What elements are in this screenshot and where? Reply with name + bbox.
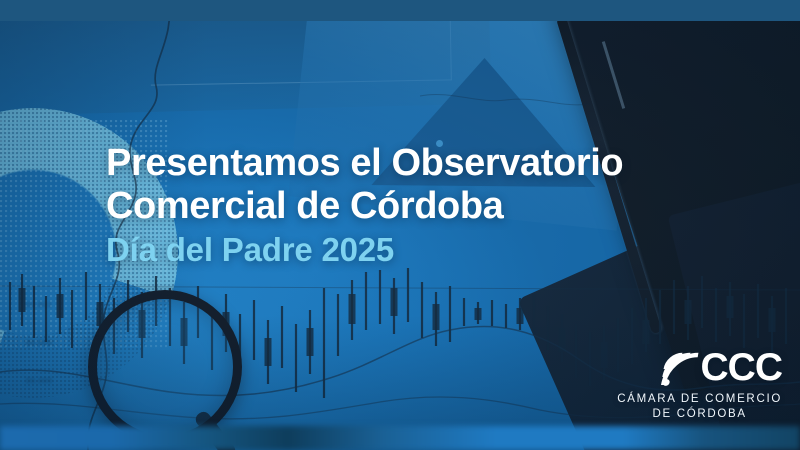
subheadline: Día del Padre 2025 — [106, 231, 623, 269]
headline-block: Presentamos el Observatorio Comercial de… — [106, 142, 623, 269]
logo-subtitle-line-2: DE CÓRDOBA — [617, 407, 782, 422]
logo[interactable]: CCC CÁMARA DE COMERCIO DE CÓRDOBA — [617, 348, 782, 422]
logo-wordmark: CCC — [701, 348, 783, 388]
page-title: Presentamos el Observatorio Comercial de… — [106, 142, 623, 228]
promo-banner: 00.001 00.000 00.000 Presentamos el Obse… — [0, 0, 800, 450]
signal-arcs-icon — [656, 349, 702, 387]
logo-subtitle-line-1: CÁMARA DE COMERCIO — [617, 392, 782, 407]
headline-line-2: Comercial de Córdoba — [106, 185, 503, 227]
letterbox-band-top — [0, 0, 800, 21]
logo-mark: CCC — [617, 348, 782, 388]
headline-line-1: Presentamos el Observatorio — [106, 142, 623, 184]
letterbox-band-bottom — [0, 426, 800, 450]
